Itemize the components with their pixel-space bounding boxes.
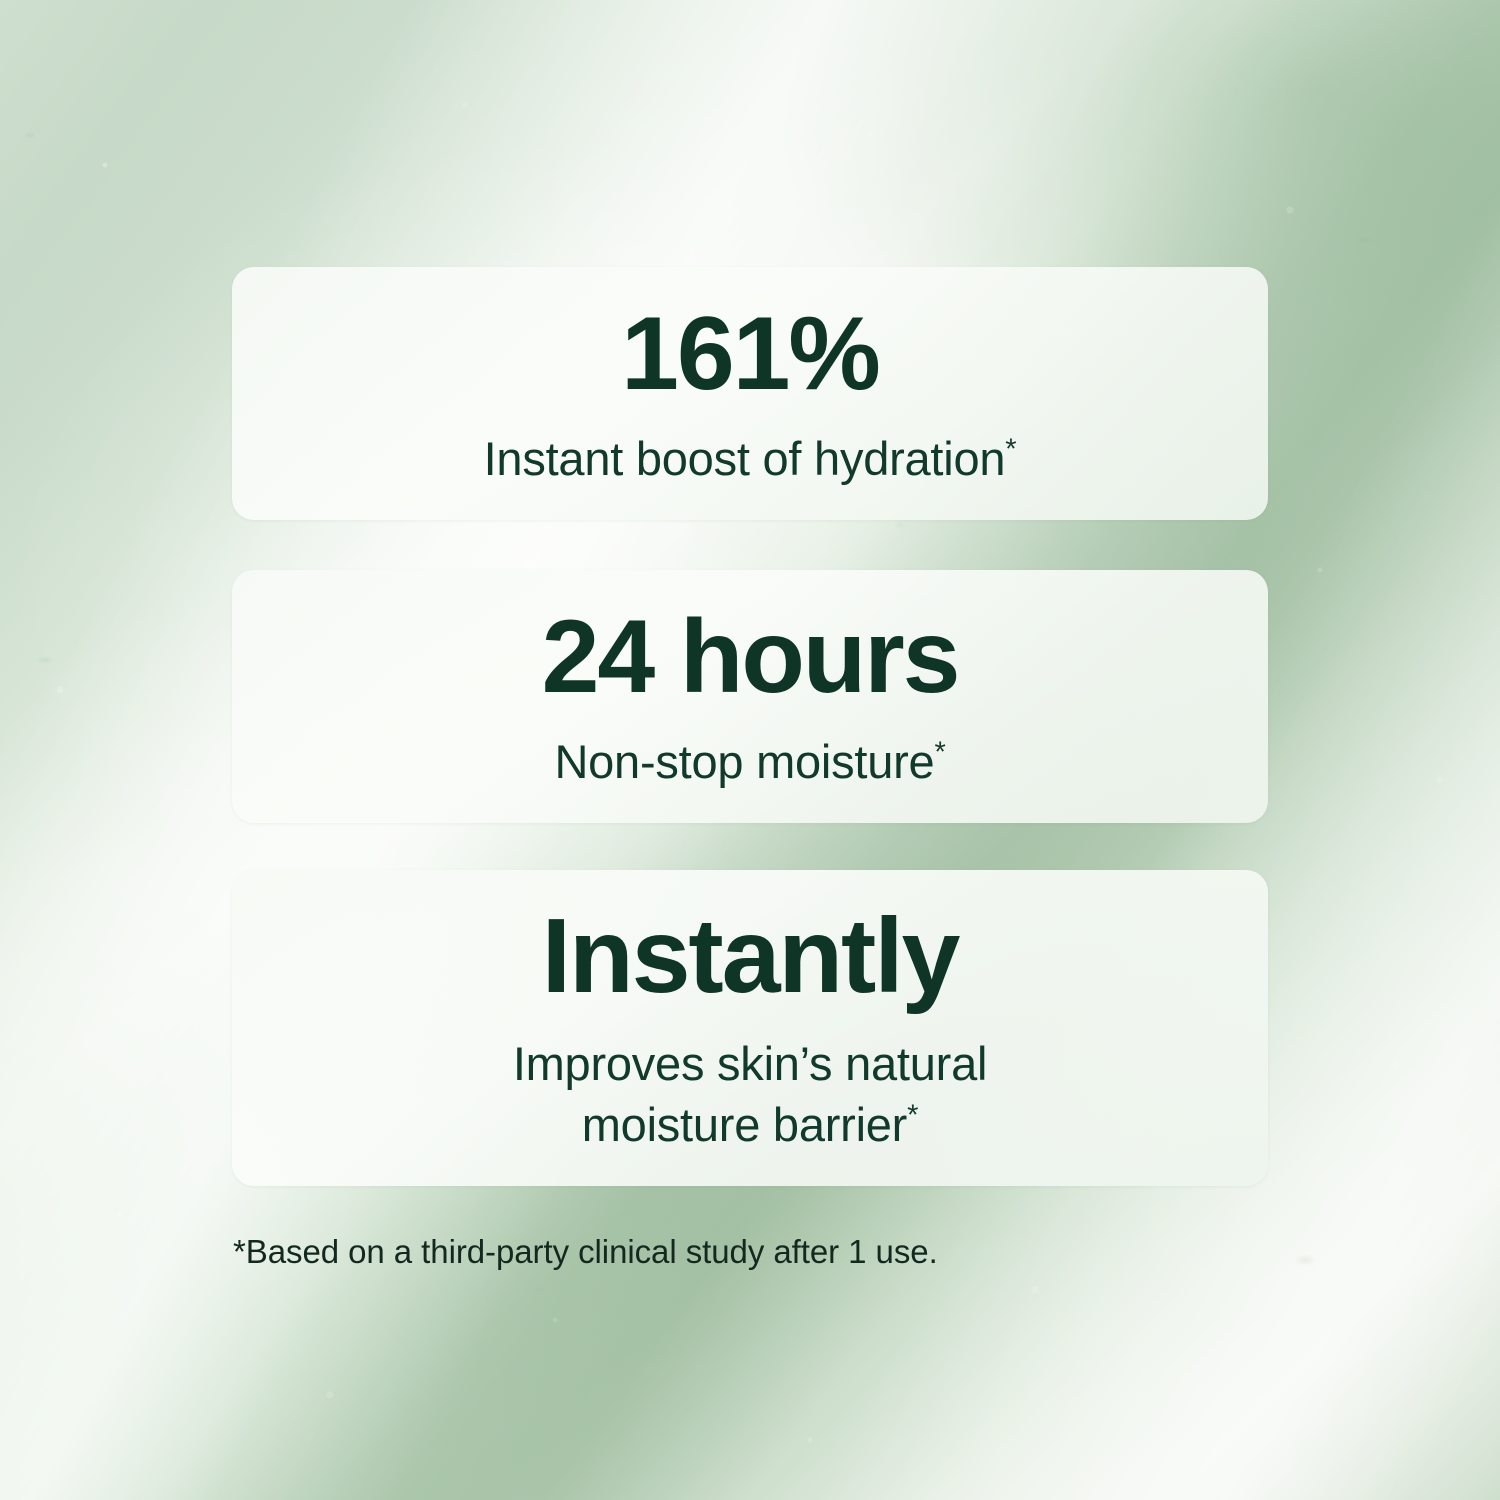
claims-content: 161% Instant boost of hydration* 24 hour…: [0, 0, 1500, 1500]
claim-card-moisture-barrier: Instantly Improves skin’s naturalmoistur…: [232, 870, 1268, 1186]
claim-subline-text: Instant boost of hydration: [484, 432, 1006, 485]
claim-subline-hydration-boost: Instant boost of hydration*: [484, 428, 1017, 489]
claim-headline-moisture-barrier: Instantly: [542, 903, 959, 1009]
claim-subline-non-stop-moisture: Non-stop moisture*: [554, 731, 945, 792]
footnote-marker-icon: *: [934, 736, 945, 768]
footnote-marker-icon: *: [1005, 433, 1016, 465]
claim-subline-line-1: Improves skin’s natural: [513, 1037, 987, 1090]
claim-subline-line-2: moisture barrier: [582, 1098, 907, 1151]
claim-headline-hydration-boost: 161%: [621, 302, 879, 406]
claim-card-hydration-boost: 161% Instant boost of hydration*: [232, 267, 1268, 520]
footnote-disclaimer: *Based on a third-party clinical study a…: [233, 1233, 938, 1271]
claim-subline-moisture-barrier: Improves skin’s naturalmoisture barrier*: [513, 1033, 987, 1155]
claim-card-non-stop-moisture: 24 hours Non-stop moisture*: [232, 570, 1268, 823]
claim-headline-non-stop-moisture: 24 hours: [542, 605, 959, 709]
claim-subline-text: Non-stop moisture: [554, 735, 934, 788]
footnote-marker-icon: *: [907, 1099, 918, 1131]
product-claims-graphic: 161% Instant boost of hydration* 24 hour…: [0, 0, 1500, 1500]
